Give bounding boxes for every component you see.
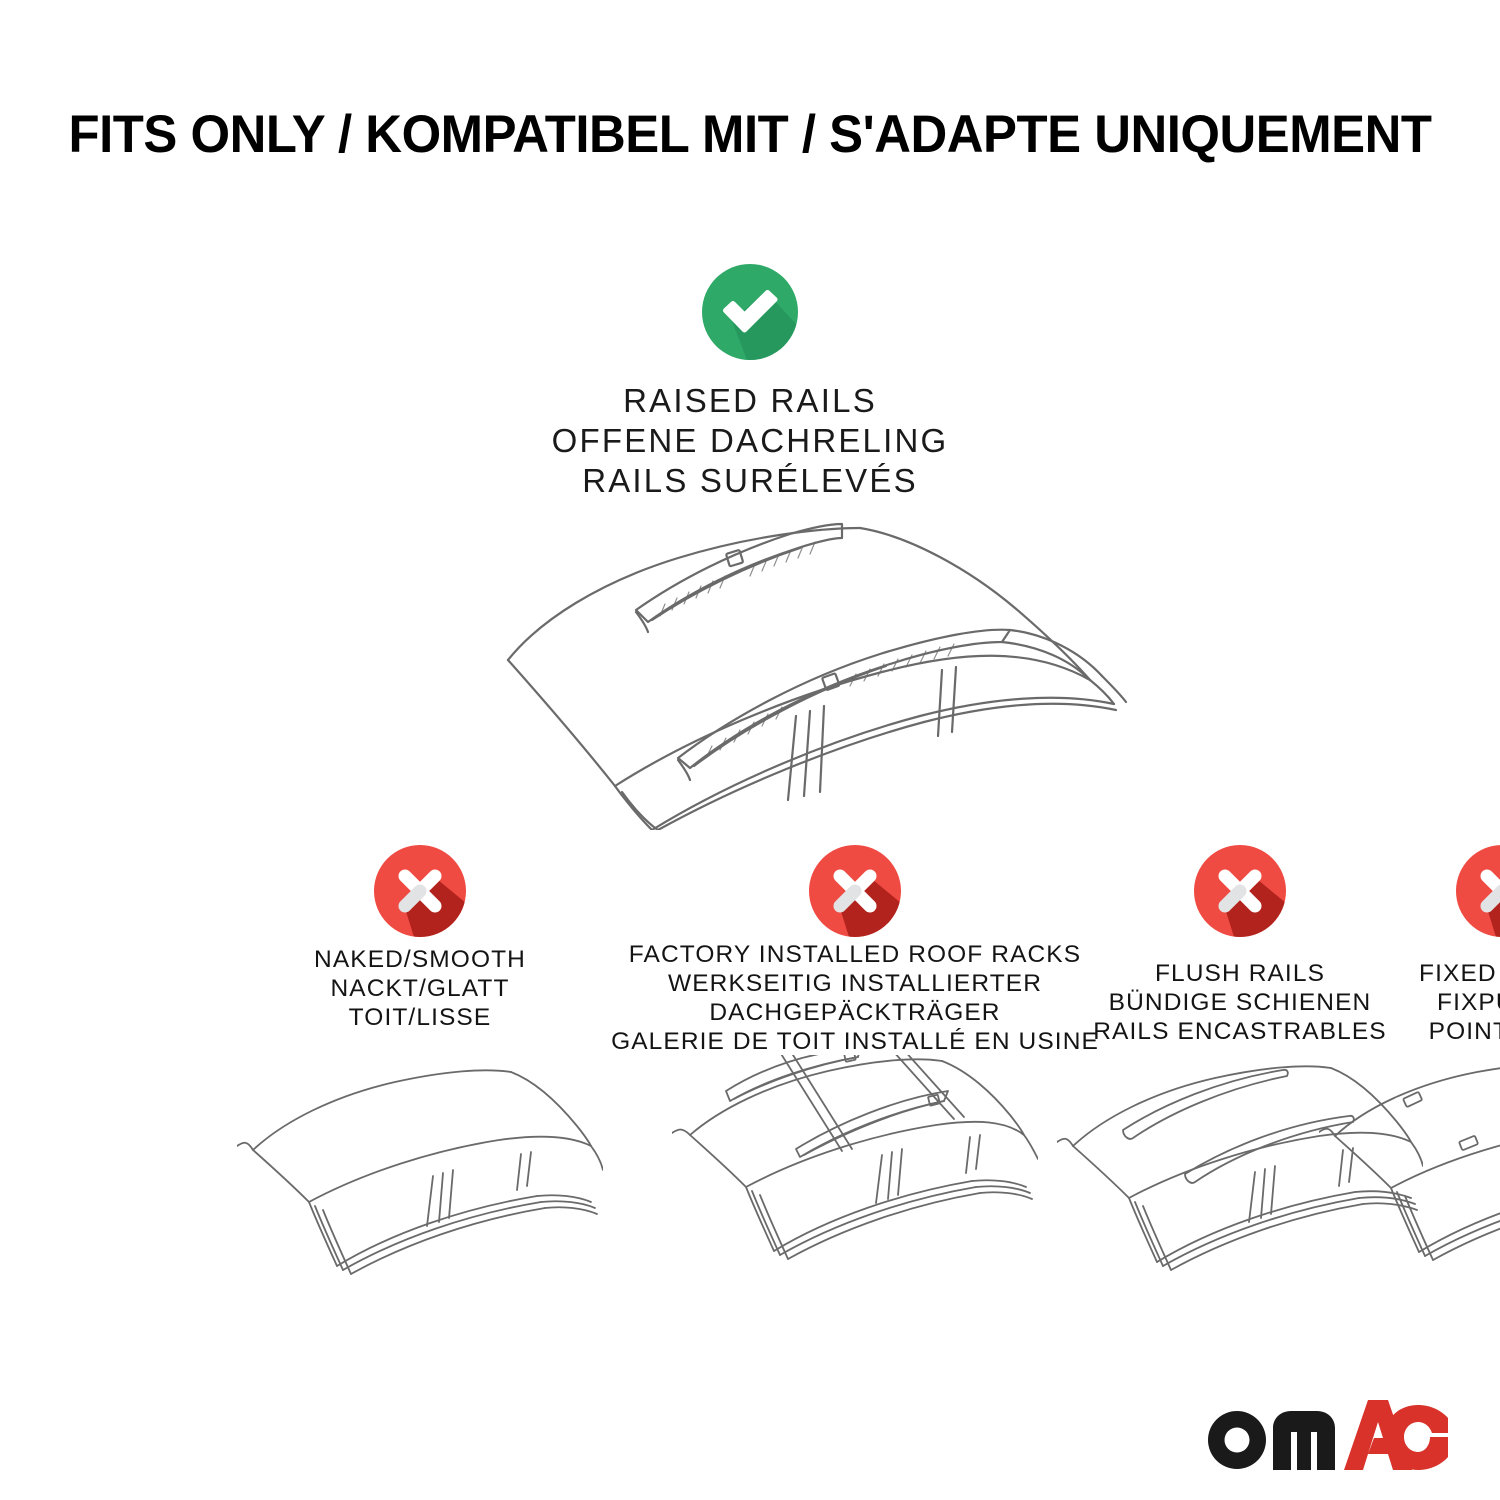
compatible-label-line-2: OFFENE DACHRELING xyxy=(0,421,1500,461)
check-circle-icon xyxy=(702,264,798,360)
car-roof-with-raised-rails-illustration xyxy=(390,500,1130,830)
car-roof-naked-smooth-illustration xyxy=(237,1060,603,1292)
x-circle-icon xyxy=(1194,845,1286,937)
logo-letter-c xyxy=(1384,1405,1448,1470)
car-roof-with-fixed-points-illustration xyxy=(1319,1060,1500,1292)
label-line-1: FLUSH RAILS xyxy=(1093,959,1386,988)
compatible-label: RAISED RAILS OFFENE DACHRELING RAILS SUR… xyxy=(0,381,1500,501)
x-circle-icon xyxy=(809,845,901,937)
page-title: FITS ONLY / KOMPATIBEL MIT / S'ADAPTE UN… xyxy=(30,104,1470,165)
compatible-label-line-1: RAISED RAILS xyxy=(0,381,1500,421)
label-line-3: TOIT/LISSE xyxy=(314,1003,526,1032)
logo-letter-m xyxy=(1273,1411,1335,1470)
label-line-1: FACTORY INSTALLED ROOF RACKS xyxy=(611,940,1099,969)
label-line-2: WERKSEITIG INSTALLIERTER xyxy=(611,969,1099,998)
logo-letter-o xyxy=(1208,1411,1266,1469)
incompatible-label-naked-smooth: NAKED/SMOOTH NACKT/GLATT TOIT/LISSE xyxy=(314,945,526,1032)
label-line-3: RAILS ENCASTRABLES xyxy=(1093,1017,1386,1046)
label-line-3: DACHGEPÄCKTRÄGER xyxy=(611,998,1099,1027)
label-line-4: GALERIE DE TOIT INSTALLÉ EN USINE xyxy=(611,1027,1099,1056)
x-circle-icon xyxy=(374,845,466,937)
label-line-3: POINT FIXE xyxy=(1419,1017,1500,1046)
car-roof-with-factory-crossbars-illustration xyxy=(672,1055,1038,1287)
omac-logo xyxy=(1198,1392,1448,1472)
label-line-2: BÜNDIGE SCHIENEN xyxy=(1093,988,1386,1017)
fitment-infographic: FITS ONLY / KOMPATIBEL MIT / S'ADAPTE UN… xyxy=(0,0,1500,1500)
compatible-label-line-3: RAILS SURÉLEVÉS xyxy=(0,461,1500,501)
label-line-1: FIXED POINT xyxy=(1419,959,1500,988)
incompatible-label-fixed-point: FIXED POINT FIXPUNKT POINT FIXE xyxy=(1419,959,1500,1046)
label-line-2: FIXPUNKT xyxy=(1419,988,1500,1017)
label-line-1: NAKED/SMOOTH xyxy=(314,945,526,974)
incompatible-label-flush-rails: FLUSH RAILS BÜNDIGE SCHIENEN RAILS ENCAS… xyxy=(1093,959,1386,1046)
label-line-2: NACKT/GLATT xyxy=(314,974,526,1003)
incompatible-label-factory-roof-racks: FACTORY INSTALLED ROOF RACKS WERKSEITIG … xyxy=(611,940,1099,1056)
x-circle-icon xyxy=(1456,845,1500,937)
